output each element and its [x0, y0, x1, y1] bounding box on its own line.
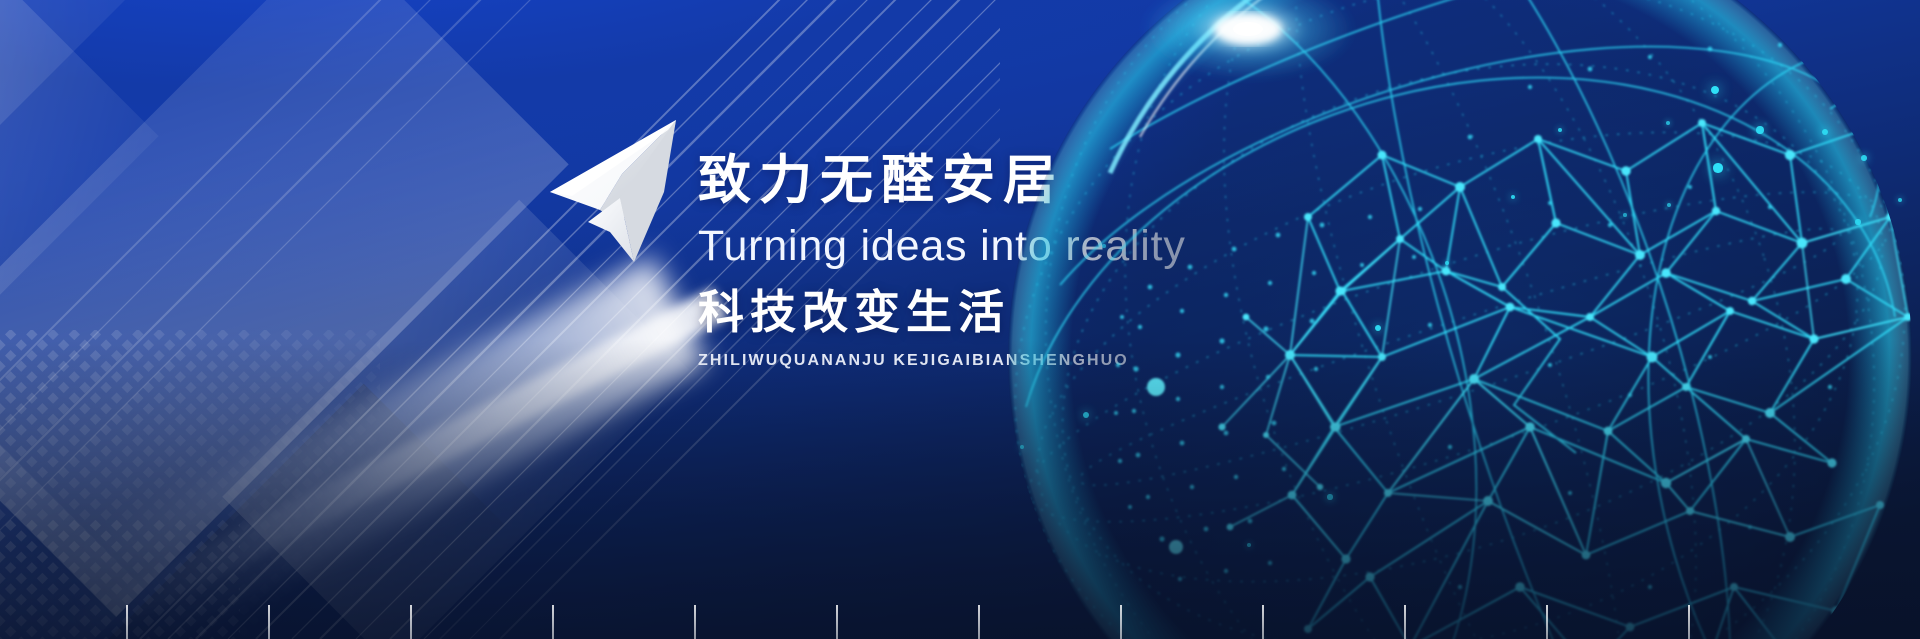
tick-mark [126, 605, 128, 639]
tick-mark [978, 605, 980, 639]
bottom-tick-marks [0, 603, 1920, 639]
wireframe-globe-icon [990, 0, 1920, 639]
tick-mark [410, 605, 412, 639]
paper-plane-icon [548, 118, 708, 264]
tick-mark [1688, 605, 1690, 639]
tick-mark [1404, 605, 1406, 639]
tick-mark [836, 605, 838, 639]
tick-mark [1546, 605, 1548, 639]
tick-mark [1262, 605, 1264, 639]
hero-banner: 致力无醛安居 Turning ideas into reality 科技改变生活… [0, 0, 1920, 639]
tick-mark [552, 605, 554, 639]
tick-mark [1120, 605, 1122, 639]
tick-mark [268, 605, 270, 639]
tick-mark [694, 605, 696, 639]
